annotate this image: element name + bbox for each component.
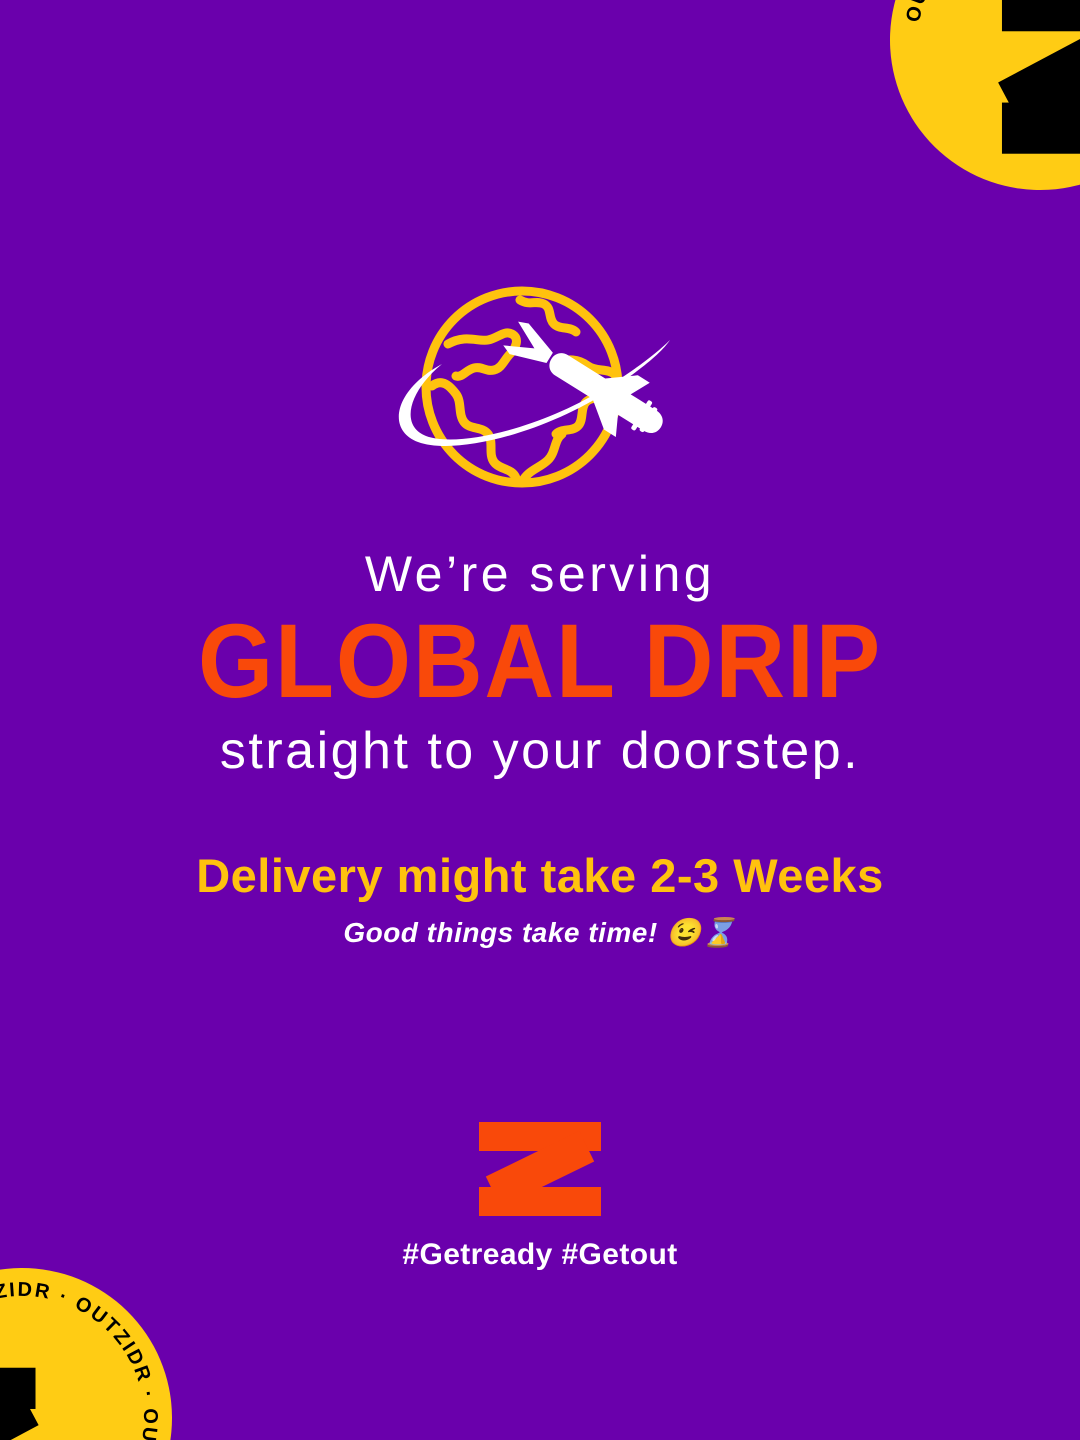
badge-top-right-z-logo-icon — [1002, 0, 1080, 154]
footer-z-logo-icon — [479, 1122, 601, 1216]
badge-bottom-left: OUTZIDR · OUTZIDR · OUTZIDR · OUTZIDR · … — [0, 1253, 187, 1440]
headline-text: GLOBAL DRIP — [43, 609, 1037, 714]
eyebrow-text: We’re serving — [0, 548, 1080, 601]
badge-bottom-left-z-logo-icon — [0, 1368, 36, 1440]
badge-top-right: OUTZIDR · OUTZIDR · OUTZIDR · OUTZIDR · — [871, 0, 1080, 209]
footer-hashtags: #Getready #Getout — [0, 1238, 1080, 1272]
reassurance-text: Good things take time! 😉⌛ — [0, 918, 1080, 949]
poster-canvas: OUTZIDR · OUTZIDR · OUTZIDR · OUTZIDR · … — [0, 0, 1080, 1440]
globe-airplane-illustration — [0, 278, 1080, 510]
delivery-notice-text: Delivery might take 2-3 Weeks — [0, 850, 1080, 902]
subhead-text: straight to your doorstep. — [0, 724, 1080, 779]
copy-block: We’re serving GLOBAL DRIP straight to yo… — [0, 548, 1080, 949]
footer-block: #Getready #Getout — [0, 1122, 1080, 1272]
airplane-icon — [494, 306, 678, 454]
